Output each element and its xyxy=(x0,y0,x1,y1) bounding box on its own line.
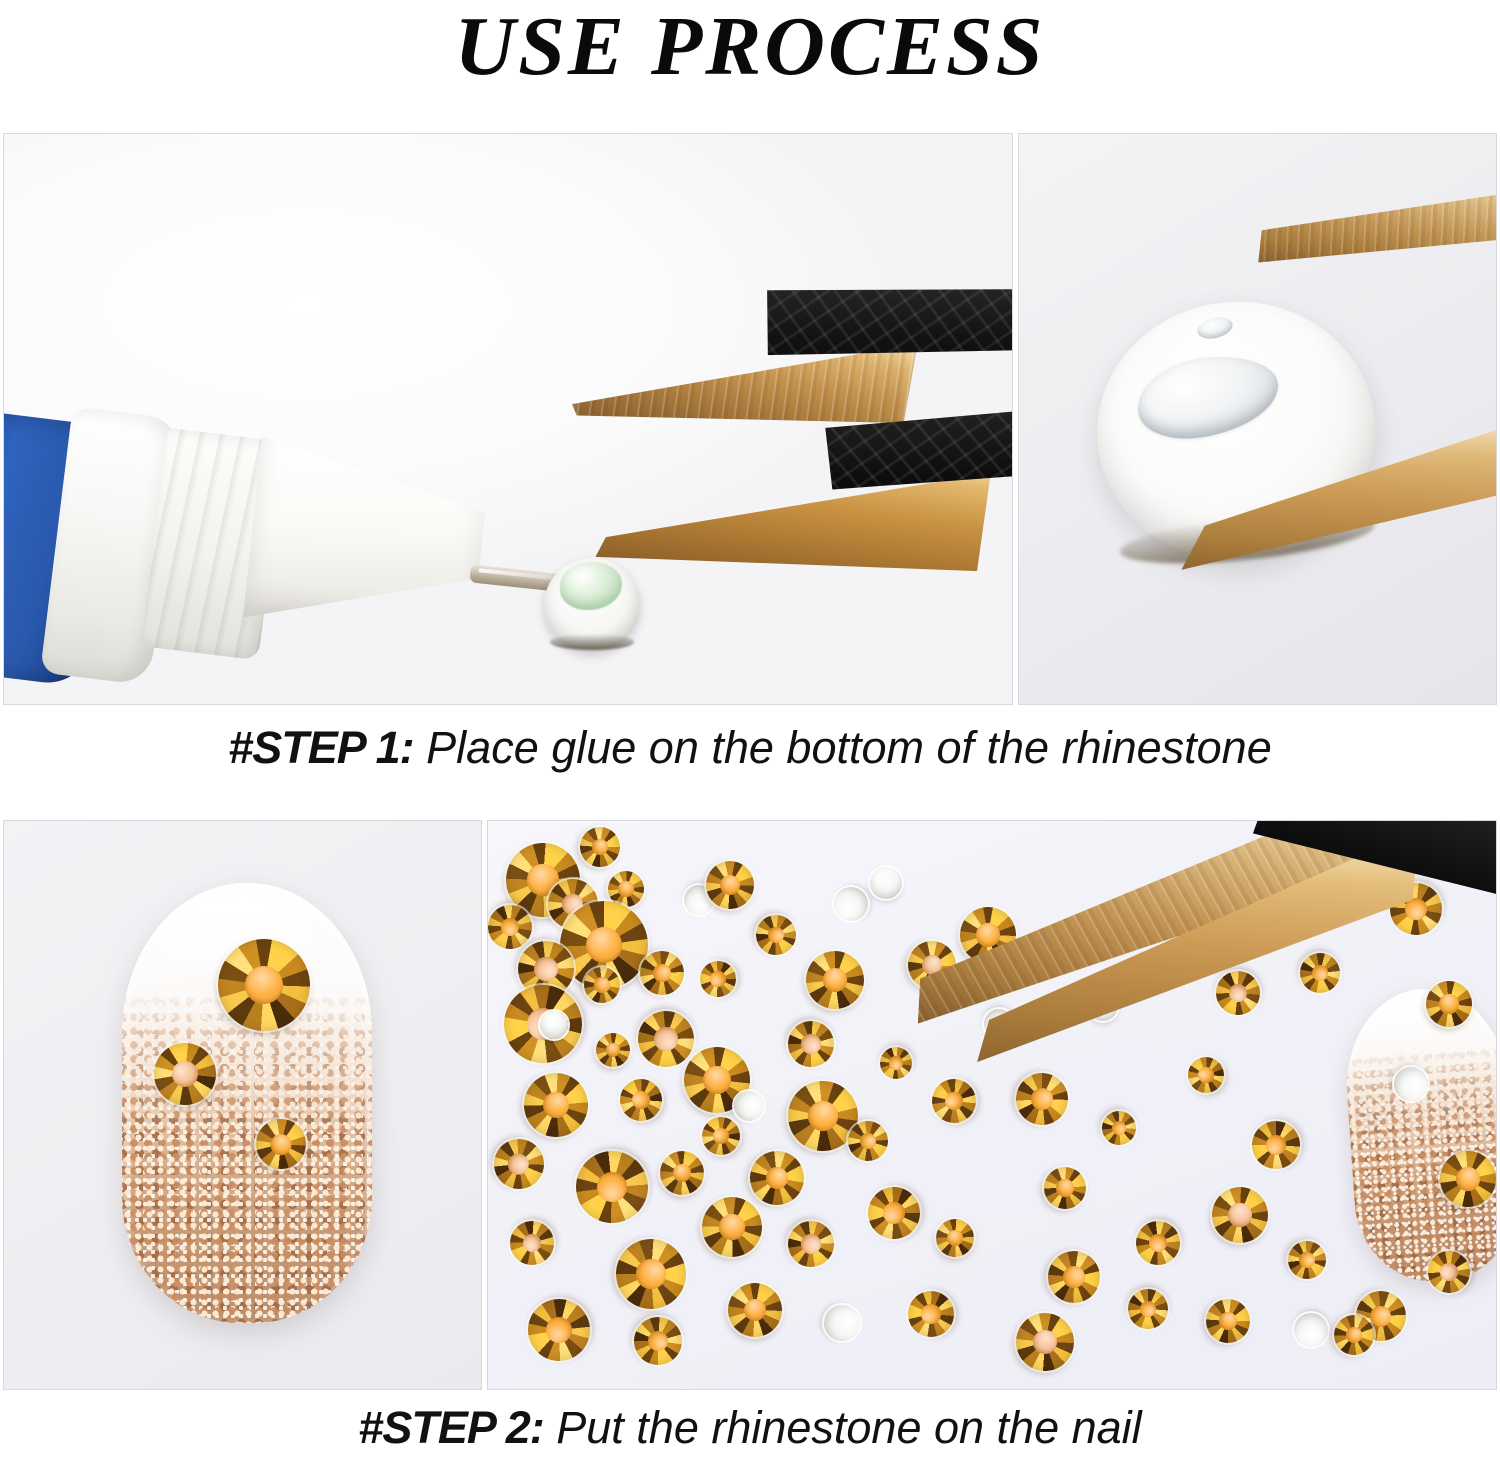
rhinestone xyxy=(1046,1249,1102,1305)
step-2-text: Put the rhinestone on the nail xyxy=(544,1402,1142,1453)
finished-nail-photo xyxy=(3,820,482,1390)
glue-closeup-photo xyxy=(1018,133,1497,705)
step-1-label: #STEP 1: xyxy=(228,722,413,773)
step-1-caption: #STEP 1: Place glue on the bottom of the… xyxy=(0,722,1500,774)
step-2-label: #STEP 2: xyxy=(358,1402,543,1453)
rhinestone xyxy=(1426,1249,1472,1295)
step-1-image-row xyxy=(3,133,1497,705)
nail-tip xyxy=(1340,984,1497,1287)
step-2-image-row xyxy=(3,820,1497,1390)
rhinestone-flat-back xyxy=(870,867,902,899)
page-title: USE PROCESS xyxy=(0,0,1500,94)
rhinestone xyxy=(638,949,686,997)
rhinestone xyxy=(906,1289,956,1339)
rhinestone-flat-back xyxy=(540,1011,568,1039)
glue-applicator-photo xyxy=(3,133,1013,705)
step-1-text: Place glue on the bottom of the rhinesto… xyxy=(414,722,1272,773)
rhinestone-application-photo xyxy=(487,820,1497,1390)
step-2-caption: #STEP 2: Put the rhinestone on the nail xyxy=(0,1402,1500,1454)
rhinestone-flat-back xyxy=(733,1090,764,1121)
glitter-gradient xyxy=(122,989,372,1323)
